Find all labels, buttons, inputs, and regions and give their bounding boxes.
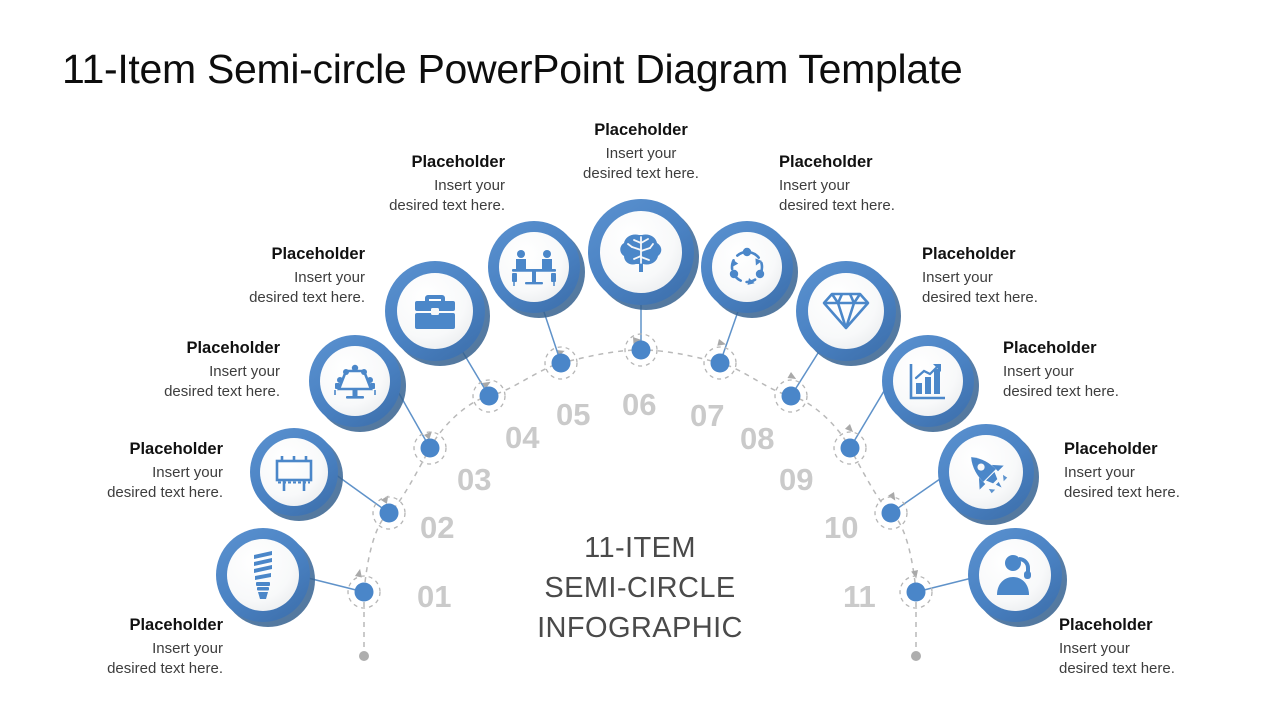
arc-node-08 (775, 380, 807, 412)
center-caption-line-2: SEMI-CIRCLE (515, 568, 765, 608)
arc-node-09 (834, 432, 866, 464)
step-number-06: 06 (622, 387, 656, 422)
label-desc-01-line1: Insert your (0, 639, 223, 659)
label-placeholder-08: Placeholder (922, 244, 1162, 265)
label-desc-11-line1: Insert your (1059, 639, 1280, 659)
label-desc-03-line1: Insert your (40, 362, 280, 382)
arc-node-02 (373, 497, 405, 529)
label-placeholder-06: Placeholder (521, 120, 761, 141)
label-desc-09: Insert your desired text here. (1003, 362, 1253, 401)
label-desc-03: Insert your desired text here. (40, 362, 280, 401)
label-desc-03-line2: desired text here. (40, 382, 280, 402)
label-desc-06: Insert your desired text here. (521, 144, 761, 183)
label-desc-04: Insert your desired text here. (125, 268, 365, 307)
label-desc-04-line1: Insert your (125, 268, 365, 288)
label-block-07: Placeholder Insert your desired text her… (779, 152, 1019, 215)
label-desc-05: Insert your desired text here. (265, 176, 505, 215)
slide-canvas: 11-Item Semi-circle PowerPoint Diagram T… (0, 0, 1280, 720)
label-placeholder-09: Placeholder (1003, 338, 1253, 359)
icon-circle-04[interactable] (385, 261, 490, 366)
label-placeholder-05: Placeholder (265, 152, 505, 173)
step-number-04: 04 (505, 420, 540, 455)
label-desc-01: Insert your desired text here. (0, 639, 223, 678)
arc-node-10 (875, 497, 907, 529)
label-desc-02-line2: desired text here. (0, 483, 223, 503)
label-desc-08-line2: desired text here. (922, 288, 1162, 308)
icon-circle-09[interactable] (882, 335, 979, 432)
label-desc-02: Insert your desired text here. (0, 463, 223, 502)
step-number-05: 05 (556, 397, 590, 432)
step-number-11: 11 (843, 579, 876, 614)
label-desc-08: Insert your desired text here. (922, 268, 1162, 307)
label-block-09: Placeholder Insert your desired text her… (1003, 338, 1253, 401)
label-desc-09-line2: desired text here. (1003, 382, 1253, 402)
label-placeholder-02: Placeholder (0, 439, 223, 460)
icon-circle-05[interactable] (488, 221, 585, 318)
step-number-03: 03 (457, 462, 491, 497)
label-placeholder-07: Placeholder (779, 152, 1019, 173)
label-desc-08-line1: Insert your (922, 268, 1162, 288)
label-block-11: Placeholder Insert your desired text her… (1059, 615, 1280, 678)
arc-node-04 (473, 380, 505, 412)
step-number-09: 09 (779, 462, 813, 497)
label-desc-07-line1: Insert your (779, 176, 1019, 196)
label-desc-02-line1: Insert your (0, 463, 223, 483)
icon-circle-02[interactable] (250, 428, 343, 521)
label-block-05: Placeholder Insert your desired text her… (265, 152, 505, 215)
center-caption: 11-ITEM SEMI-CIRCLE INFOGRAPHIC (515, 528, 765, 648)
label-placeholder-03: Placeholder (40, 338, 280, 359)
label-desc-01-line2: desired text here. (0, 659, 223, 679)
label-desc-07-line2: desired text here. (779, 196, 1019, 216)
label-block-01: Placeholder Insert your desired text her… (0, 615, 223, 678)
label-block-06: Placeholder Insert your desired text her… (521, 120, 761, 183)
step-number-01: 01 (417, 579, 451, 614)
label-desc-04-line2: desired text here. (125, 288, 365, 308)
arc-tail-dot-left (359, 651, 369, 661)
icon-circle-03[interactable] (309, 335, 406, 432)
icon-circle-08[interactable] (796, 261, 901, 366)
icon-circle-01[interactable] (216, 528, 315, 627)
label-desc-07: Insert your desired text here. (779, 176, 1019, 215)
label-placeholder-10: Placeholder (1064, 439, 1280, 460)
label-desc-05-line2: desired text here. (265, 196, 505, 216)
step-number-07: 07 (690, 398, 724, 433)
step-number-08: 08 (740, 421, 774, 456)
step-number-10: 10 (824, 510, 858, 545)
icon-circle-06[interactable] (588, 199, 699, 310)
label-desc-10: Insert your desired text here. (1064, 463, 1280, 502)
label-block-02: Placeholder Insert your desired text her… (0, 439, 223, 502)
label-block-03: Placeholder Insert your desired text her… (40, 338, 280, 401)
label-placeholder-01: Placeholder (0, 615, 223, 636)
label-desc-11-line2: desired text here. (1059, 659, 1280, 679)
label-desc-09-line1: Insert your (1003, 362, 1253, 382)
label-desc-10-line2: desired text here. (1064, 483, 1280, 503)
label-placeholder-04: Placeholder (125, 244, 365, 265)
label-desc-11: Insert your desired text here. (1059, 639, 1280, 678)
label-block-10: Placeholder Insert your desired text her… (1064, 439, 1280, 502)
arc-node-07 (704, 347, 736, 379)
label-desc-10-line1: Insert your (1064, 463, 1280, 483)
step-number-02: 02 (420, 510, 454, 545)
center-caption-line-1: 11-ITEM (515, 528, 765, 568)
arc-tail-dot-right (911, 651, 921, 661)
label-desc-05-line1: Insert your (265, 176, 505, 196)
label-block-04: Placeholder Insert your desired text her… (125, 244, 365, 307)
label-placeholder-11: Placeholder (1059, 615, 1280, 636)
icon-circle-11[interactable] (968, 528, 1067, 627)
icon-circle-07[interactable] (701, 221, 798, 318)
label-desc-06-line2: desired text here. (521, 164, 761, 184)
center-caption-line-3: INFOGRAPHIC (515, 608, 765, 648)
label-desc-06-line1: Insert your (521, 144, 761, 164)
icon-circle-10[interactable] (938, 424, 1039, 525)
label-block-08: Placeholder Insert your desired text her… (922, 244, 1162, 307)
